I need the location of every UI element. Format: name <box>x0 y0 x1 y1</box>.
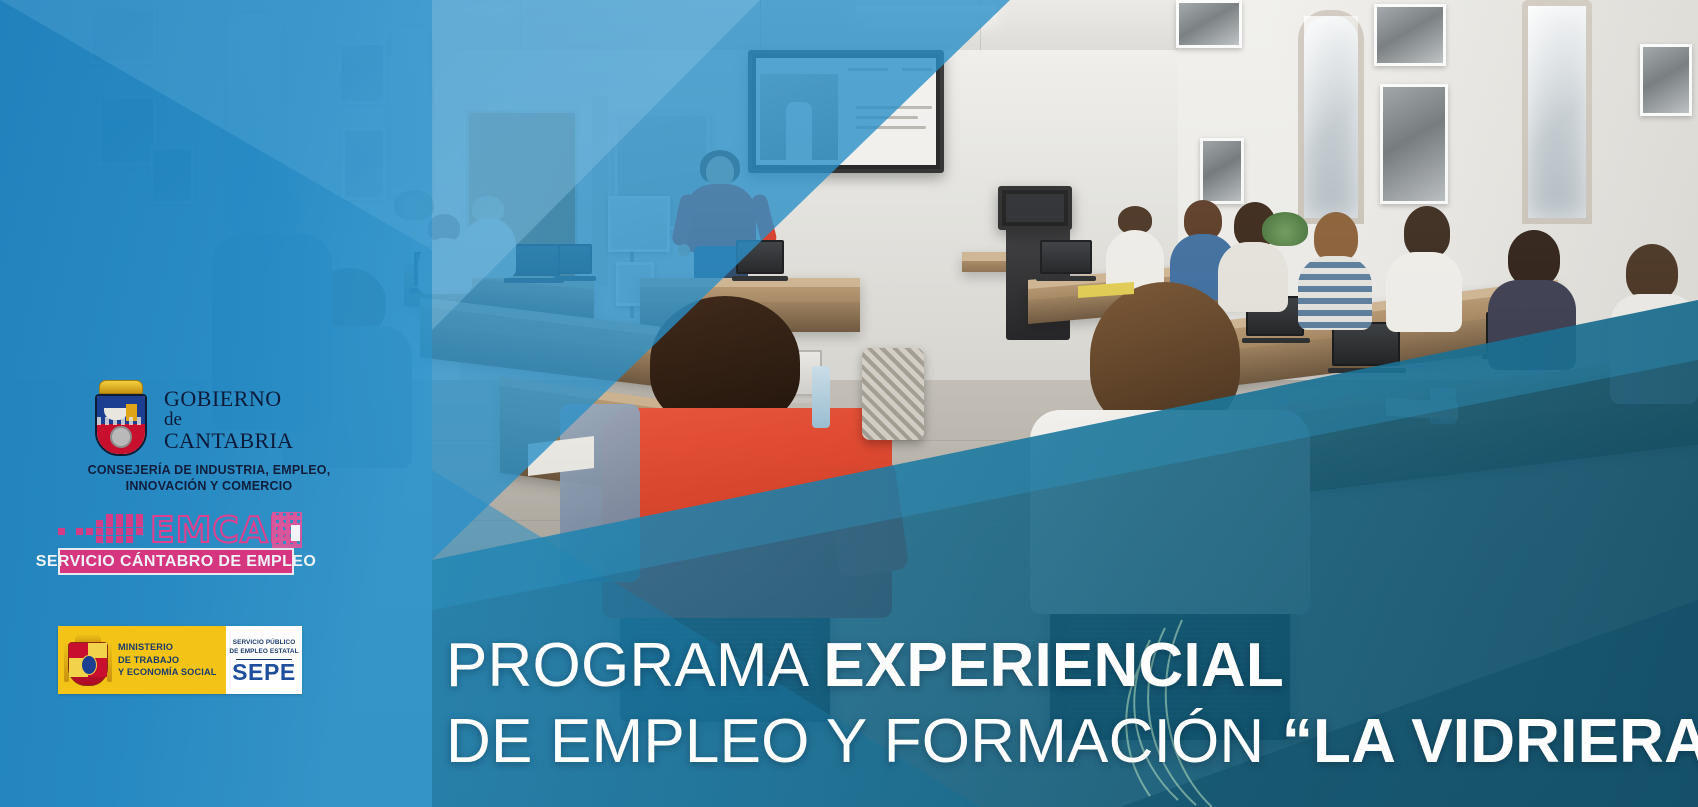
sce-band-label: SERVICIO CÁNTABRO DE EMPLEO <box>36 553 316 571</box>
ministerio-line3: Y ECONOMÍA SOCIAL <box>118 666 217 679</box>
consejeria-line1: CONSEJERÍA DE INDUSTRIA, EMPLEO, <box>56 462 362 478</box>
sepe-line1: SERVICIO PÚBLICO <box>233 639 296 647</box>
sepe-acronym: SEPE <box>232 661 296 684</box>
cantabria-coat-of-arms-icon <box>92 380 150 456</box>
consejeria-subtitle: CONSEJERÍA DE INDUSTRIA, EMPLEO, INNOVAC… <box>56 462 362 494</box>
ministerio-line1: MINISTERIO <box>118 641 217 654</box>
servicio-cantabro-empleo-band: SERVICIO CÁNTABRO DE EMPLEO <box>58 548 294 575</box>
title-line-2: DE EMPLEO Y FORMACIÓN “LA VIDRIERA” <box>446 711 1626 773</box>
title-line2-bold: “LA VIDRIERA” <box>1282 707 1698 776</box>
logo-emcan: EMCAN <box>58 512 298 550</box>
title-line1-thin: PROGRAMA <box>446 631 823 700</box>
poster-title: PROGRAMA EXPERIENCIAL DE EMPLEO Y FORMAC… <box>446 635 1626 773</box>
cantabria-wordmark: GOBIERNO de CANTABRIA <box>164 388 293 452</box>
sepe-block: SERVICIO PÚBLICO DE EMPLEO ESTATAL SEPE <box>226 626 302 694</box>
ministerio-text: MINISTERIO DE TRABAJO Y ECONOMÍA SOCIAL <box>118 641 217 679</box>
ministerio-line2: DE TRABAJO <box>118 654 217 667</box>
title-line-1: PROGRAMA EXPERIENCIAL <box>446 635 1626 697</box>
spain-coat-of-arms-icon <box>68 634 108 686</box>
cantabria-line3: CANTABRIA <box>164 430 293 452</box>
title-line2-thin: DE EMPLEO Y FORMACIÓN <box>446 707 1282 776</box>
emcan-dot-pattern-icon <box>58 514 142 548</box>
cantabria-line1: GOBIERNO <box>164 388 293 410</box>
consejeria-line2: INNOVACIÓN Y COMERCIO <box>56 478 362 494</box>
sepe-line2: DE EMPLEO ESTATAL <box>229 648 298 656</box>
poster-canvas: GOBIERNO de CANTABRIA CONSEJERÍA DE INDU… <box>0 0 1698 807</box>
ministerio-block: MINISTERIO DE TRABAJO Y ECONOMÍA SOCIAL <box>58 626 226 694</box>
title-line1-bold: EXPERIENCIAL <box>823 631 1284 700</box>
cantabria-line2: de <box>164 410 293 429</box>
logo-ministerio-sepe: MINISTERIO DE TRABAJO Y ECONOMÍA SOCIAL … <box>58 626 302 694</box>
emcan-grid-icon <box>272 512 302 548</box>
logo-stack: GOBIERNO de CANTABRIA CONSEJERÍA DE INDU… <box>0 0 430 807</box>
